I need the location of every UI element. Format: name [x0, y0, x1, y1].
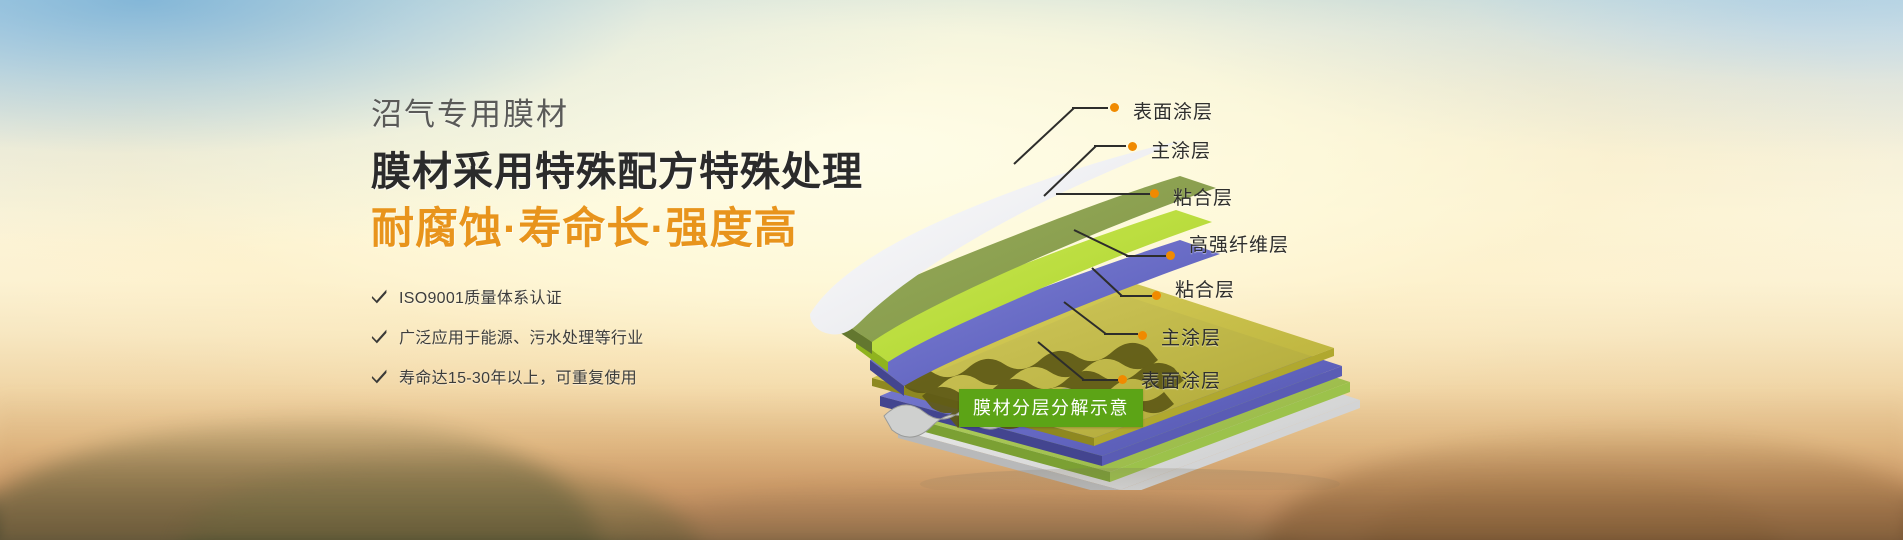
leader-dot-2 [1128, 142, 1137, 151]
check-icon [371, 288, 388, 305]
list-item-label: 广泛应用于能源、污水处理等行业 [399, 324, 644, 348]
check-icon [371, 368, 388, 385]
check-icon [371, 328, 388, 345]
leader-dot-3 [1150, 189, 1159, 198]
layer-label-surface-coat-top: 表面涂层 [1133, 97, 1213, 124]
leader-line-7 [1036, 340, 1122, 386]
layer-label-adhesive-top: 粘合层 [1173, 183, 1233, 210]
leader-dot-7 [1118, 375, 1127, 384]
leader-line-4 [1072, 226, 1170, 262]
leader-dot-1 [1110, 103, 1119, 112]
layer-label-main-coat-bottom: 主涂层 [1161, 323, 1221, 350]
leader-line-3 [1054, 188, 1154, 198]
leader-line-6 [1062, 300, 1142, 340]
layer-label-surface-coat-bottom: 表面涂层 [1141, 366, 1221, 393]
layer-label-main-coat-top: 主涂层 [1151, 136, 1211, 163]
leader-dot-5 [1152, 291, 1161, 300]
leader-line-5 [1090, 266, 1156, 302]
leader-dot-4 [1166, 251, 1175, 260]
list-item-label: ISO9001质量体系认证 [399, 284, 562, 308]
leader-dot-6 [1138, 331, 1147, 340]
layer-label-adhesive-bottom: 粘合层 [1175, 275, 1235, 302]
layer-label-high-strength-fiber: 高强纤维层 [1189, 230, 1289, 257]
hero-banner: 沼气专用膜材 膜材采用特殊配方特殊处理 耐腐蚀·寿命长·强度高 ISO9001质… [0, 0, 1903, 540]
list-item-label: 寿命达15-30年以上，可重复使用 [399, 364, 637, 388]
diagram-caption-badge: 膜材分层分解示意 [959, 389, 1143, 427]
